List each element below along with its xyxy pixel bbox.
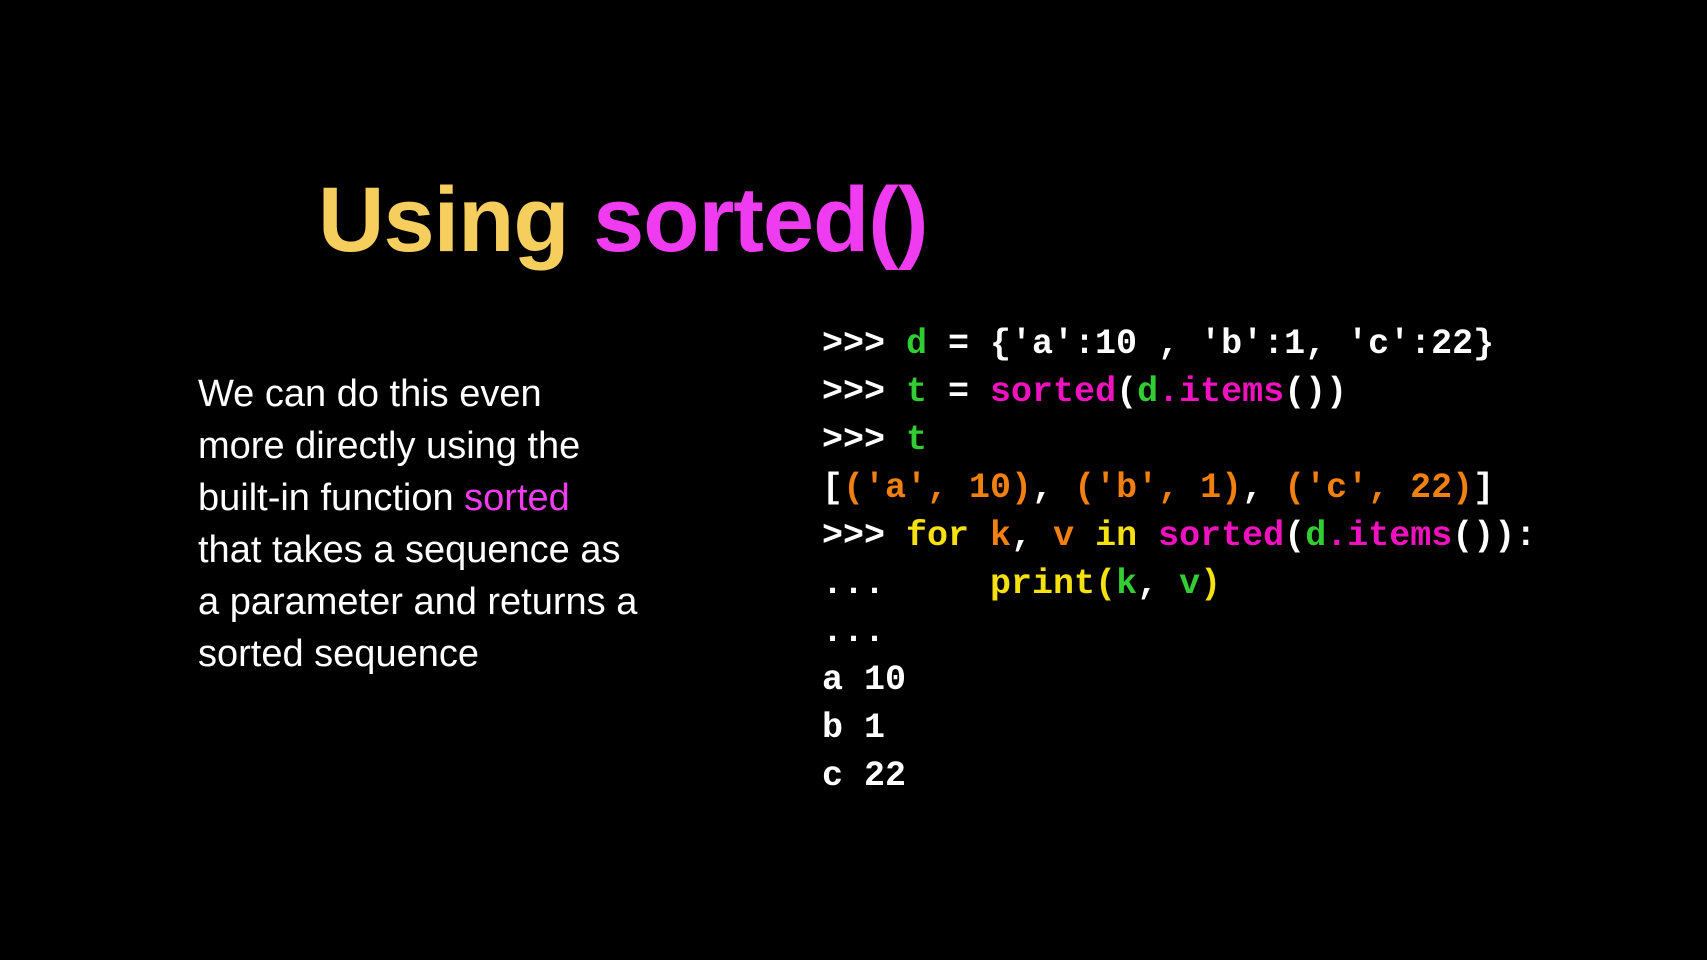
code-token: d [906, 324, 927, 364]
code-line: >>> t = sorted(d.items()) [822, 368, 1536, 416]
code-token: ('a', 10) [843, 468, 1032, 508]
code-token: = [927, 372, 990, 412]
code-token: , [1032, 468, 1074, 508]
code-token: sorted [1158, 516, 1284, 556]
code-token: .items [1326, 516, 1452, 556]
code-token: b 1 [822, 708, 885, 748]
code-token: = {'a':10 , 'b':1, 'c':22} [927, 324, 1494, 364]
code-token: >>> [822, 516, 906, 556]
code-token [1137, 516, 1158, 556]
code-token: t [906, 420, 927, 460]
body-text-after: that takes a sequence as a parameter and… [198, 529, 637, 675]
code-line: ... [822, 608, 1536, 656]
code-token: ) [1200, 564, 1221, 604]
code-token: v [1179, 564, 1200, 604]
code-line: a 10 [822, 656, 1536, 704]
code-token: in [1095, 516, 1137, 556]
code-token: ( [1116, 372, 1137, 412]
code-token: t [906, 372, 927, 412]
code-token [1074, 516, 1095, 556]
title-word-sorted: sorted() [593, 169, 927, 271]
code-line: >>> d = {'a':10 , 'b':1, 'c':22} [822, 320, 1536, 368]
code-token: d [1137, 372, 1158, 412]
code-token: sorted [990, 372, 1116, 412]
slide-canvas: Using sorted() We can do this even more … [0, 0, 1707, 960]
code-token: for [906, 516, 969, 556]
code-token: >>> [822, 324, 906, 364]
code-token: ()): [1452, 516, 1536, 556]
code-line: ... print(k, v) [822, 560, 1536, 608]
code-token: d [1305, 516, 1326, 556]
code-line: b 1 [822, 704, 1536, 752]
code-token: ... [822, 564, 990, 604]
code-token: ()) [1284, 372, 1347, 412]
code-token: >>> [822, 372, 906, 412]
code-token [969, 516, 990, 556]
code-token: , [1011, 516, 1053, 556]
body-keyword-sorted: sorted [464, 477, 570, 519]
python-console-code-block: >>> d = {'a':10 , 'b':1, 'c':22}>>> t = … [822, 320, 1536, 800]
code-token: ('b', 1) [1074, 468, 1242, 508]
code-token: >>> [822, 420, 906, 460]
code-token: , [1242, 468, 1284, 508]
code-line: [('a', 10), ('b', 1), ('c', 22)] [822, 464, 1536, 512]
code-token: c 22 [822, 756, 906, 796]
title-word-using: Using [318, 169, 593, 271]
code-token: [ [822, 468, 843, 508]
code-line: >>> for k, v in sorted(d.items()): [822, 512, 1536, 560]
code-token: ... [822, 612, 885, 652]
code-line: c 22 [822, 752, 1536, 800]
code-token: , [1137, 564, 1179, 604]
code-token: ( [1284, 516, 1305, 556]
code-token: ] [1473, 468, 1494, 508]
code-token: .items [1158, 372, 1284, 412]
page-title: Using sorted() [318, 170, 928, 270]
code-token: a 10 [822, 660, 906, 700]
code-token: k [990, 516, 1011, 556]
code-token: ('c', 22) [1284, 468, 1473, 508]
code-token: print( [990, 564, 1116, 604]
code-line: >>> t [822, 416, 1536, 464]
code-token: k [1116, 564, 1137, 604]
code-token: v [1053, 516, 1074, 556]
body-paragraph: We can do this even more directly using … [198, 368, 638, 680]
